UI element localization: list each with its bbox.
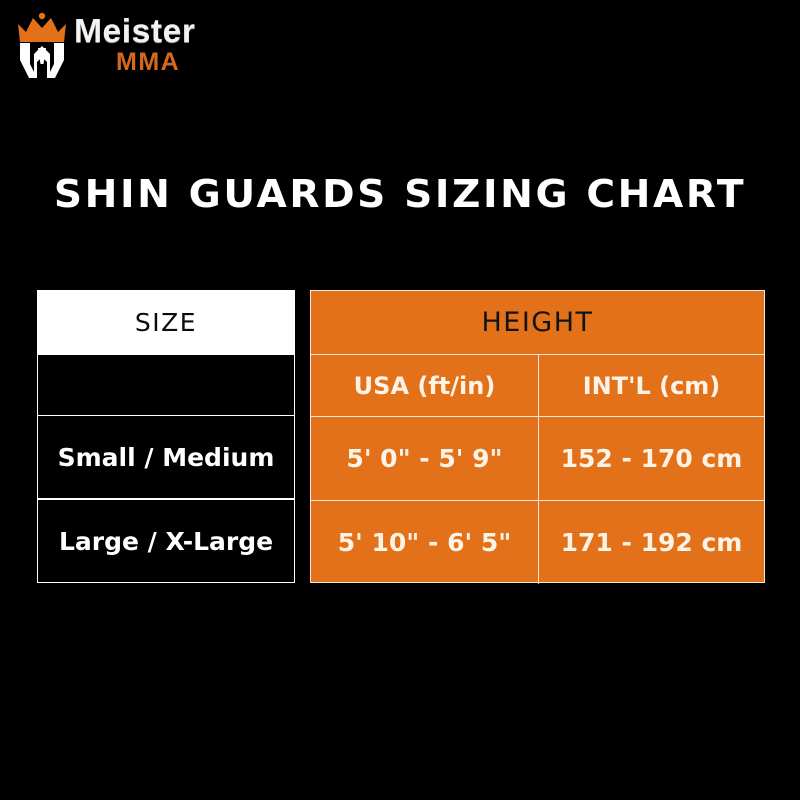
table-row-intl-1: 171 - 192 cm <box>538 500 764 584</box>
height-subheader-usa: USA (ft/in) <box>311 354 538 416</box>
size-column: SIZE Small / Medium Large / X-Large <box>37 290 295 583</box>
spartan-helmet-crown-icon <box>12 12 72 78</box>
brand-wordmark: Meister MMA <box>74 14 264 78</box>
size-column-spacer-cell <box>37 355 295 415</box>
table-row-usa-1: 5' 10" - 6' 5" <box>311 500 538 584</box>
table-row-intl-0: 152 - 170 cm <box>538 416 764 500</box>
height-column-header: HEIGHT <box>311 291 764 354</box>
brand-logo: Meister MMA <box>8 10 268 82</box>
table-row-usa-0: 5' 0" - 5' 9" <box>311 416 538 500</box>
brand-sub: MMA <box>116 49 264 75</box>
sizing-chart-table: SIZE Small / Medium Large / X-Large HEIG… <box>37 290 765 583</box>
brand-name: Meister <box>74 14 268 48</box>
size-column-header: SIZE <box>37 290 295 355</box>
page-title: SHIN GUARDS SIZING CHART <box>0 172 800 216</box>
height-column-group: HEIGHT USA (ft/in) INT'L (cm) 5' 0" - 5'… <box>310 290 765 583</box>
table-row-size-1: Large / X-Large <box>37 499 295 583</box>
height-subheader-intl: INT'L (cm) <box>538 354 764 416</box>
table-row-size-0: Small / Medium <box>37 415 295 499</box>
